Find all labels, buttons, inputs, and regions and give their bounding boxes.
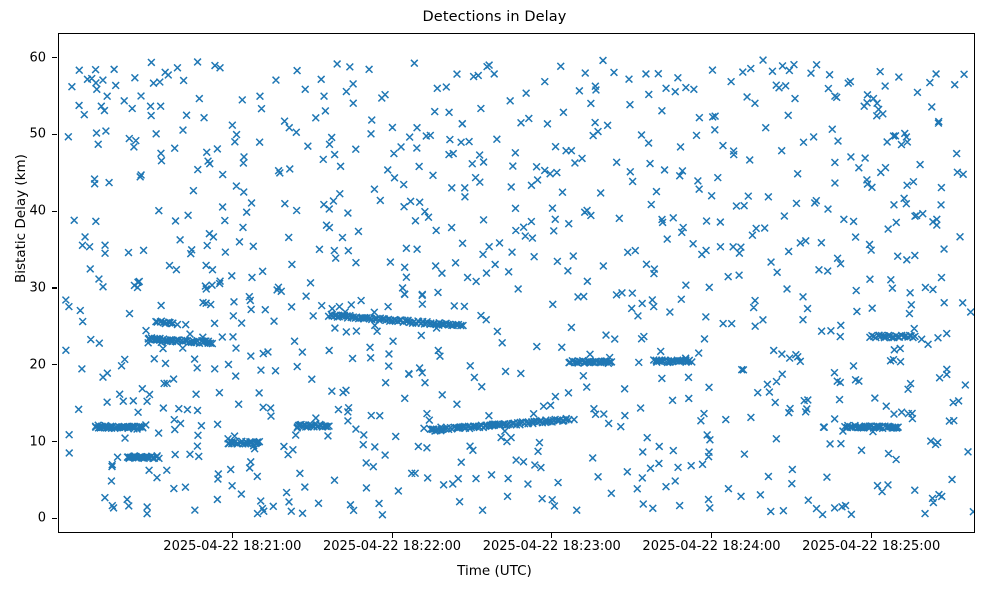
y-tick-mark — [52, 364, 57, 365]
x-tick-mark — [232, 533, 233, 538]
y-tick-mark — [52, 441, 57, 442]
y-tick-label: 30 — [2, 280, 46, 295]
x-axis-label: Time (UTC) — [0, 563, 989, 579]
y-tick-label: 10 — [2, 434, 46, 449]
y-tick-mark — [52, 211, 57, 212]
x-tick-label: 2025-04-22 18:25:00 — [776, 539, 966, 554]
y-tick-label: 50 — [2, 127, 46, 142]
x-tick-mark — [711, 533, 712, 538]
x-tick-mark — [392, 533, 393, 538]
y-tick-label: 20 — [2, 357, 46, 372]
scatter-points — [59, 34, 975, 533]
y-tick-mark — [52, 518, 57, 519]
x-tick-mark — [551, 533, 552, 538]
scatter-marker-group — [62, 57, 975, 518]
matplotlib-figure: Detections in Delay Bistatic Delay (km) … — [0, 0, 989, 590]
y-tick-mark — [52, 57, 57, 58]
y-tick-label: 0 — [2, 511, 46, 526]
x-tick-mark — [871, 533, 872, 538]
y-tick-label: 40 — [2, 204, 46, 219]
plot-area — [58, 33, 975, 533]
chart-title: Detections in Delay — [0, 9, 989, 25]
y-tick-label: 60 — [2, 50, 46, 65]
y-tick-mark — [52, 287, 57, 288]
y-tick-mark — [52, 134, 57, 135]
